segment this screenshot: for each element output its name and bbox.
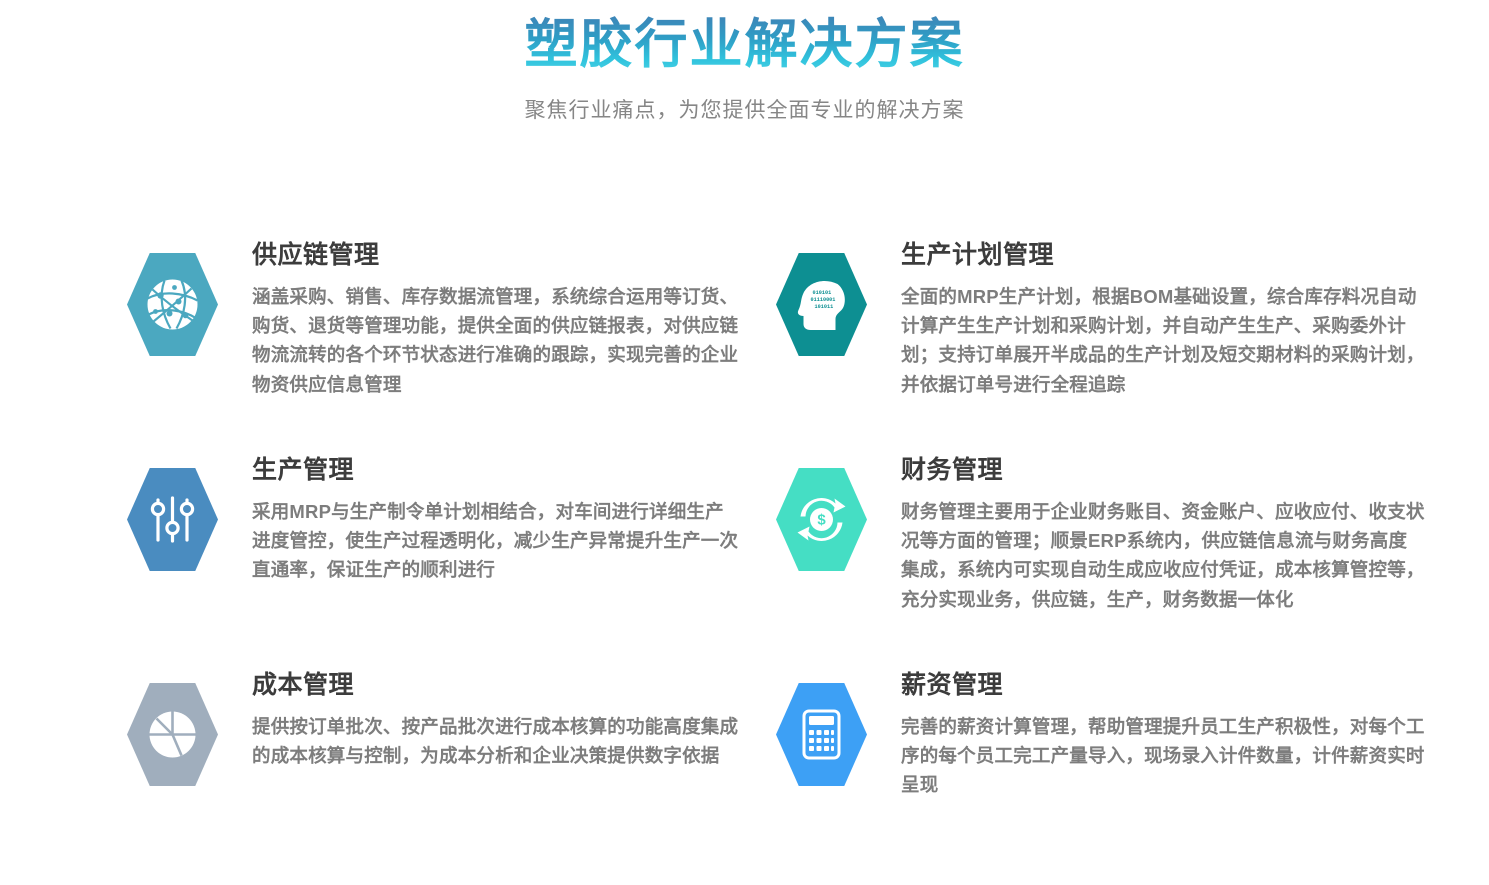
page-header: 塑胶行业解决方案 聚焦行业痛点，为您提供全面专业的解决方案: [0, 0, 1489, 124]
feature-icon-wrap: 010101 01110001 101011: [776, 253, 867, 356]
feature-description: 提供按订单批次、按产品批次进行成本核算的功能高度集成的成本核算与控制，为成本分析…: [252, 712, 739, 770]
feature-grid: 供应链管理 涵盖采购、销售、库存数据流管理，系统综合运用等订货、购货、退货等管理…: [0, 240, 1489, 885]
feature-body: 供应链管理 涵盖采购、销售、库存数据流管理，系统综合运用等订货、购货、退货等管理…: [252, 240, 739, 399]
svg-text:010101: 010101: [813, 290, 832, 296]
feature-description: 涵盖采购、销售、库存数据流管理，系统综合运用等订货、购货、退货等管理功能，提供全…: [252, 282, 739, 399]
calculator-icon: [776, 683, 867, 786]
feature-icon-wrap: [127, 468, 218, 571]
svg-text:01110001: 01110001: [811, 297, 836, 303]
svg-text:101011: 101011: [815, 304, 834, 310]
feature-body: 财务管理 财务管理主要用于企业财务账目、资金账户、应收应付、收支状况等方面的管理…: [901, 455, 1425, 614]
feature-title: 财务管理: [901, 455, 1425, 485]
feature-icon-wrap: [776, 683, 867, 786]
feature-card-finance[interactable]: $ 财务管理 财务管理主要用于企业财务账目、资金账户、应收应付、收支状况等方面的…: [776, 455, 1425, 670]
feature-description: 完善的薪资计算管理，帮助管理提升员工生产积极性，对每个工序的每个员工完工产量导入…: [901, 712, 1425, 800]
feature-body: 生产计划管理 全面的MRP生产计划，根据BOM基础设置，综合库存料况自动计算产生…: [901, 240, 1425, 399]
feature-card-supply-chain[interactable]: 供应链管理 涵盖采购、销售、库存数据流管理，系统综合运用等订货、购货、退货等管理…: [127, 240, 776, 455]
network-globe-icon: [127, 253, 218, 356]
feature-description: 采用MRP与生产制令单计划相结合，对车间进行详细生产进度管控，使生产过程透明化，…: [252, 497, 739, 585]
feature-icon-wrap: [127, 253, 218, 356]
svg-text:$: $: [817, 512, 826, 529]
feature-description: 财务管理主要用于企业财务账目、资金账户、应收应付、收支状况等方面的管理；顺景ER…: [901, 497, 1425, 614]
feature-description: 全面的MRP生产计划，根据BOM基础设置，综合库存料况自动计算产生生产计划和采购…: [901, 282, 1425, 399]
feature-title: 生产管理: [252, 455, 739, 485]
feature-body: 薪资管理 完善的薪资计算管理，帮助管理提升员工生产积极性，对每个工序的每个员工完…: [901, 670, 1425, 800]
feature-card-payroll[interactable]: 薪资管理 完善的薪资计算管理，帮助管理提升员工生产积极性，对每个工序的每个员工完…: [776, 670, 1425, 885]
feature-card-production[interactable]: 生产管理 采用MRP与生产制令单计划相结合，对车间进行详细生产进度管控，使生产过…: [127, 455, 776, 670]
feature-title: 生产计划管理: [901, 240, 1425, 270]
pie-chart-icon: [127, 683, 218, 786]
feature-title: 成本管理: [252, 670, 739, 700]
sliders-icon: [127, 468, 218, 571]
currency-refresh-icon: $: [776, 468, 867, 571]
feature-body: 生产管理 采用MRP与生产制令单计划相结合，对车间进行详细生产进度管控，使生产过…: [252, 455, 739, 585]
feature-body: 成本管理 提供按订单批次、按产品批次进行成本核算的功能高度集成的成本核算与控制，…: [252, 670, 739, 770]
page-title: 塑胶行业解决方案: [525, 14, 965, 77]
feature-title: 薪资管理: [901, 670, 1425, 700]
head-binary-icon: 010101 01110001 101011: [776, 253, 867, 356]
feature-card-production-plan[interactable]: 010101 01110001 101011 生产计划管理 全面的MRP生产计划…: [776, 240, 1425, 455]
page-subtitle: 聚焦行业痛点，为您提供全面专业的解决方案: [0, 97, 1489, 124]
feature-icon-wrap: $: [776, 468, 867, 571]
feature-title: 供应链管理: [252, 240, 739, 270]
feature-icon-wrap: [127, 683, 218, 786]
feature-card-cost[interactable]: 成本管理 提供按订单批次、按产品批次进行成本核算的功能高度集成的成本核算与控制，…: [127, 670, 776, 885]
